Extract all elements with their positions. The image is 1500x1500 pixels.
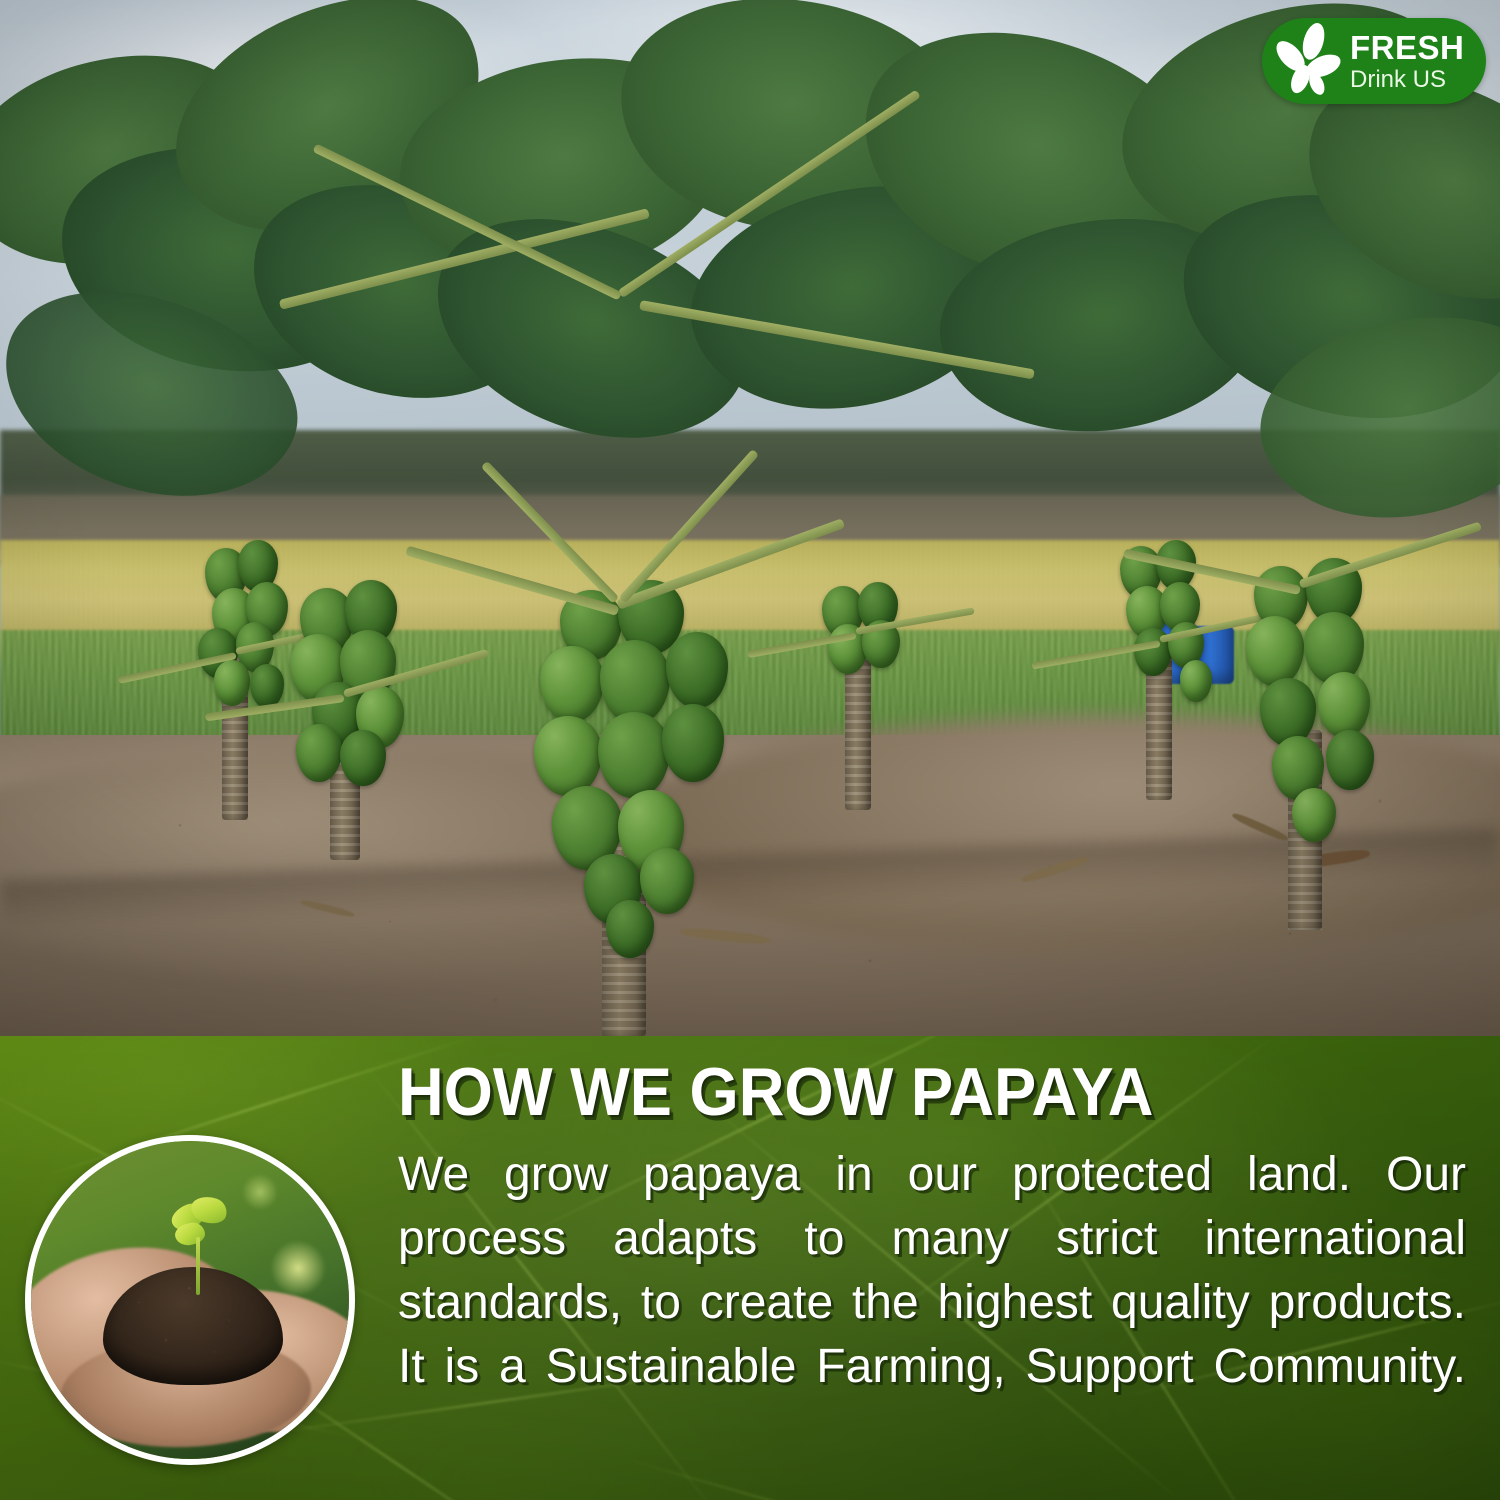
sprout-icon bbox=[171, 1197, 225, 1289]
papaya-orchard-photo bbox=[0, 0, 1500, 1036]
logo-brand-secondary: Drink US bbox=[1350, 68, 1464, 92]
promo-infographic: FRESH Drink US bbox=[0, 0, 1500, 1500]
fresh-drink-us-logo[interactable]: FRESH Drink US bbox=[1262, 18, 1486, 104]
hands-holding-sprout-photo bbox=[25, 1135, 355, 1465]
leaf-cluster-icon bbox=[1266, 20, 1348, 102]
banner-body-text: We grow papaya in our protected land. Ou… bbox=[398, 1143, 1466, 1463]
logo-brand-primary: FRESH bbox=[1350, 31, 1464, 64]
banner-text-block: HOW WE GROW PAPAYA We grow papaya in our… bbox=[398, 1055, 1466, 1463]
banner-headline: HOW WE GROW PAPAYA bbox=[398, 1055, 1391, 1129]
